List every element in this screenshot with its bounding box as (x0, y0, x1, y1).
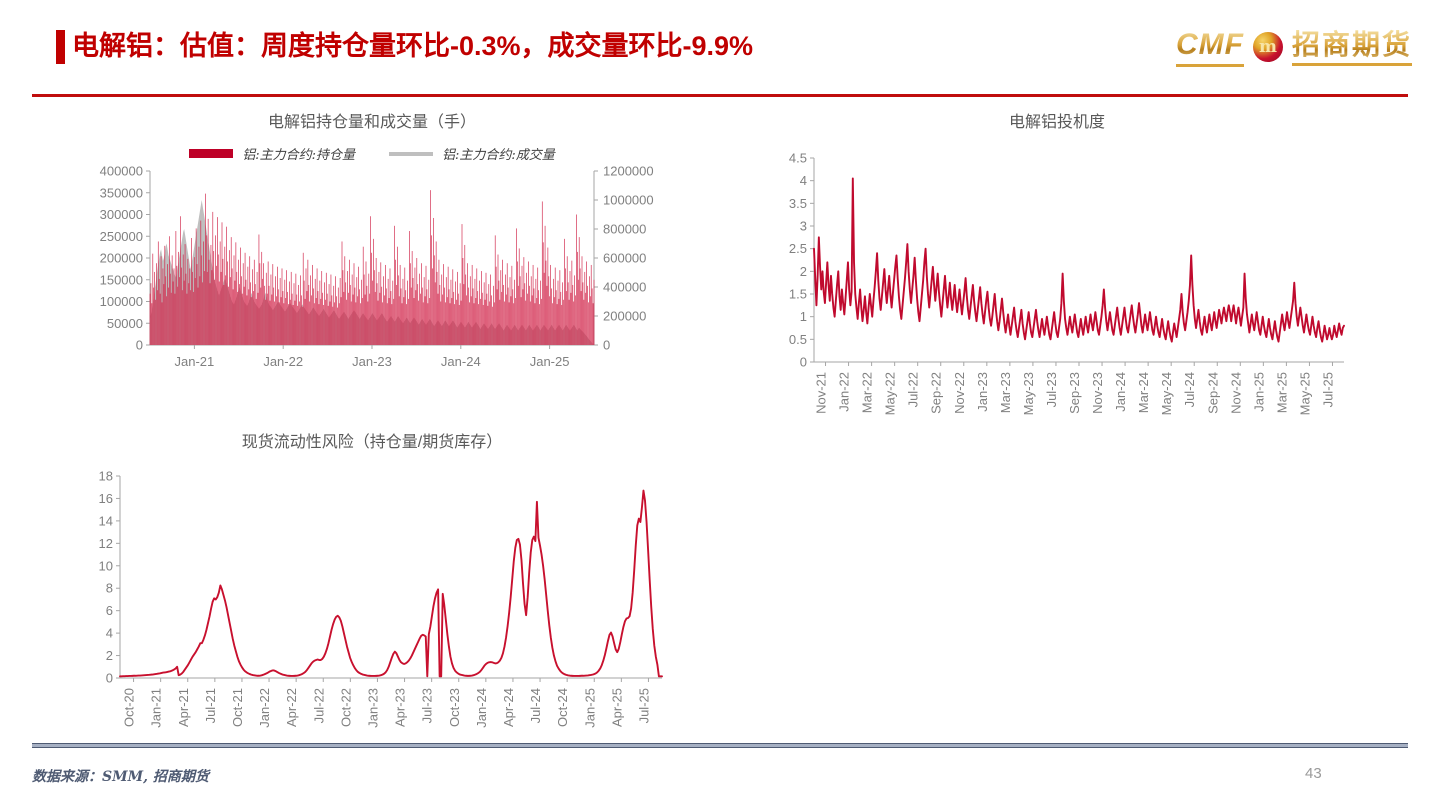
chart-panel-speculation: 电解铝投机度 00.511.522.533.544.5Nov-21Jan-22M… (752, 108, 1362, 455)
chart-title-liquidity-risk: 现货流动性风险（持仓量/期货库存） (62, 428, 682, 452)
svg-text:800000: 800000 (603, 222, 646, 237)
legend-label-open-interest: 铝:主力合约:持仓量 (242, 144, 355, 163)
footer-divider (32, 743, 1408, 748)
page-number: 43 (1305, 765, 1322, 782)
svg-text:2.5: 2.5 (789, 241, 807, 256)
chart-title-oi-volume: 电解铝持仓量和成交量（手） (72, 108, 672, 132)
logo-cmf-text: CMF (1176, 28, 1244, 67)
logo-badge-icon: m (1253, 32, 1283, 62)
svg-text:Apr-24: Apr-24 (501, 688, 516, 727)
chart-canvas-liquidity-risk: 024681012141618Oct-20Jan-21Apr-21Jul-21O… (62, 468, 682, 753)
svg-text:Jan-22: Jan-22 (263, 354, 303, 369)
svg-text:Jan-23: Jan-23 (365, 688, 380, 728)
svg-text:100000: 100000 (100, 294, 143, 309)
title-accent-bar (56, 30, 65, 64)
svg-text:Jan-22: Jan-22 (257, 688, 272, 728)
svg-text:Jan-23: Jan-23 (975, 372, 990, 412)
svg-text:Jul-23: Jul-23 (1044, 372, 1059, 407)
svg-text:Sep-23: Sep-23 (1067, 372, 1082, 414)
svg-text:May-25: May-25 (1297, 372, 1312, 415)
svg-text:Jul-24: Jul-24 (1182, 372, 1197, 407)
header-divider (32, 94, 1408, 97)
svg-text:10: 10 (99, 558, 113, 573)
svg-text:0: 0 (800, 355, 807, 370)
svg-text:Jul-25: Jul-25 (636, 688, 651, 723)
svg-text:14: 14 (99, 513, 113, 528)
chart-title-speculation: 电解铝投机度 (752, 108, 1362, 132)
svg-text:150000: 150000 (100, 272, 143, 287)
slide-header: 电解铝：估值：周度持仓量环比-0.3%，成交量环比-9.9% CMF m 招商期… (0, 0, 1440, 92)
svg-text:3.5: 3.5 (789, 196, 807, 211)
chart-canvas-speculation: 00.511.522.533.544.5Nov-21Jan-22Mar-22Ma… (752, 150, 1362, 455)
svg-text:Nov-24: Nov-24 (1228, 372, 1243, 414)
svg-text:400000: 400000 (603, 280, 646, 295)
svg-text:Jul-22: Jul-22 (906, 372, 921, 407)
svg-text:3: 3 (800, 219, 807, 234)
svg-text:Jan-21: Jan-21 (175, 354, 215, 369)
svg-text:2: 2 (800, 264, 807, 279)
svg-text:Apr-25: Apr-25 (609, 688, 624, 727)
svg-text:200000: 200000 (100, 251, 143, 266)
svg-text:4: 4 (106, 626, 113, 641)
logo-company-name: 招商期货 (1292, 29, 1412, 66)
svg-text:Jul-23: Jul-23 (420, 688, 435, 723)
svg-text:250000: 250000 (100, 229, 143, 244)
svg-text:Sep-22: Sep-22 (929, 372, 944, 414)
svg-text:4.5: 4.5 (789, 151, 807, 166)
legend-swatch-line-icon (389, 152, 433, 156)
svg-text:2: 2 (106, 648, 113, 663)
legend-label-volume: 铝:主力合约:成交量 (442, 144, 555, 163)
svg-text:600000: 600000 (603, 251, 646, 266)
svg-text:Jan-25: Jan-25 (582, 688, 597, 728)
svg-text:300000: 300000 (100, 207, 143, 222)
svg-text:Jan-22: Jan-22 (837, 372, 852, 412)
svg-text:0: 0 (106, 671, 113, 686)
svg-text:Apr-23: Apr-23 (393, 688, 408, 727)
svg-text:Oct-23: Oct-23 (447, 688, 462, 727)
svg-text:Jul-24: Jul-24 (528, 688, 543, 723)
svg-text:50000: 50000 (107, 316, 143, 331)
svg-text:1.5: 1.5 (789, 287, 807, 302)
svg-text:Oct-22: Oct-22 (338, 688, 353, 727)
svg-text:1200000: 1200000 (603, 164, 654, 179)
svg-text:Nov-22: Nov-22 (952, 372, 967, 414)
svg-text:Mar-23: Mar-23 (998, 372, 1013, 413)
svg-text:4: 4 (800, 173, 807, 188)
svg-text:Mar-24: Mar-24 (1136, 372, 1151, 413)
svg-text:Jan-24: Jan-24 (441, 354, 481, 369)
chart-legend-oi-volume: 铝:主力合约:持仓量 铝:主力合约:成交量 (72, 144, 672, 163)
svg-text:Nov-21: Nov-21 (814, 372, 829, 414)
svg-text:Mar-22: Mar-22 (860, 372, 875, 413)
svg-text:Jul-21: Jul-21 (203, 688, 218, 723)
svg-text:May-24: May-24 (1159, 372, 1174, 415)
svg-text:Oct-21: Oct-21 (230, 688, 245, 727)
svg-text:Oct-24: Oct-24 (555, 688, 570, 727)
svg-text:16: 16 (99, 491, 113, 506)
chart-canvas-oi-volume: 0500001000001500002000002500003000003500… (72, 163, 672, 393)
svg-text:400000: 400000 (100, 164, 143, 179)
svg-text:Jan-25: Jan-25 (530, 354, 570, 369)
legend-item-volume: 铝:主力合约:成交量 (389, 144, 555, 163)
svg-text:1000000: 1000000 (603, 193, 654, 208)
svg-text:200000: 200000 (603, 309, 646, 324)
svg-text:May-22: May-22 (883, 372, 898, 415)
svg-text:6: 6 (106, 603, 113, 618)
svg-text:Jan-21: Jan-21 (149, 688, 164, 728)
svg-text:350000: 350000 (100, 185, 143, 200)
svg-text:0.5: 0.5 (789, 332, 807, 347)
svg-text:Oct-20: Oct-20 (122, 688, 137, 727)
svg-text:Apr-21: Apr-21 (176, 688, 191, 727)
svg-text:8: 8 (106, 581, 113, 596)
svg-text:Jul-22: Jul-22 (311, 688, 326, 723)
chart-panel-oi-volume: 电解铝持仓量和成交量（手） 铝:主力合约:持仓量 铝:主力合约:成交量 0500… (72, 108, 672, 393)
svg-text:0: 0 (136, 338, 143, 353)
brand-logo: CMF m 招商期货 (1176, 26, 1412, 68)
svg-text:Nov-23: Nov-23 (1090, 372, 1105, 414)
svg-text:18: 18 (99, 469, 113, 484)
svg-text:Mar-25: Mar-25 (1274, 372, 1289, 413)
svg-text:Jan-24: Jan-24 (1113, 372, 1128, 412)
svg-text:1: 1 (800, 309, 807, 324)
chart-panel-liquidity-risk: 现货流动性风险（持仓量/期货库存） 024681012141618Oct-20J… (62, 428, 682, 753)
svg-text:Jan-25: Jan-25 (1251, 372, 1266, 412)
svg-text:Jul-25: Jul-25 (1321, 372, 1336, 407)
svg-text:Apr-22: Apr-22 (284, 688, 299, 727)
data-source-note: 数据来源：SMM, 招商期货 (32, 766, 209, 786)
page-title: 电解铝：估值：周度持仓量环比-0.3%，成交量环比-9.9% (72, 26, 753, 66)
svg-text:0: 0 (603, 338, 610, 353)
legend-item-open-interest: 铝:主力合约:持仓量 (189, 144, 355, 163)
svg-text:May-23: May-23 (1021, 372, 1036, 415)
svg-text:12: 12 (99, 536, 113, 551)
legend-swatch-bar-icon (189, 149, 233, 158)
svg-text:Sep-24: Sep-24 (1205, 372, 1220, 414)
svg-text:Jan-24: Jan-24 (474, 688, 489, 728)
svg-text:Jan-23: Jan-23 (352, 354, 392, 369)
